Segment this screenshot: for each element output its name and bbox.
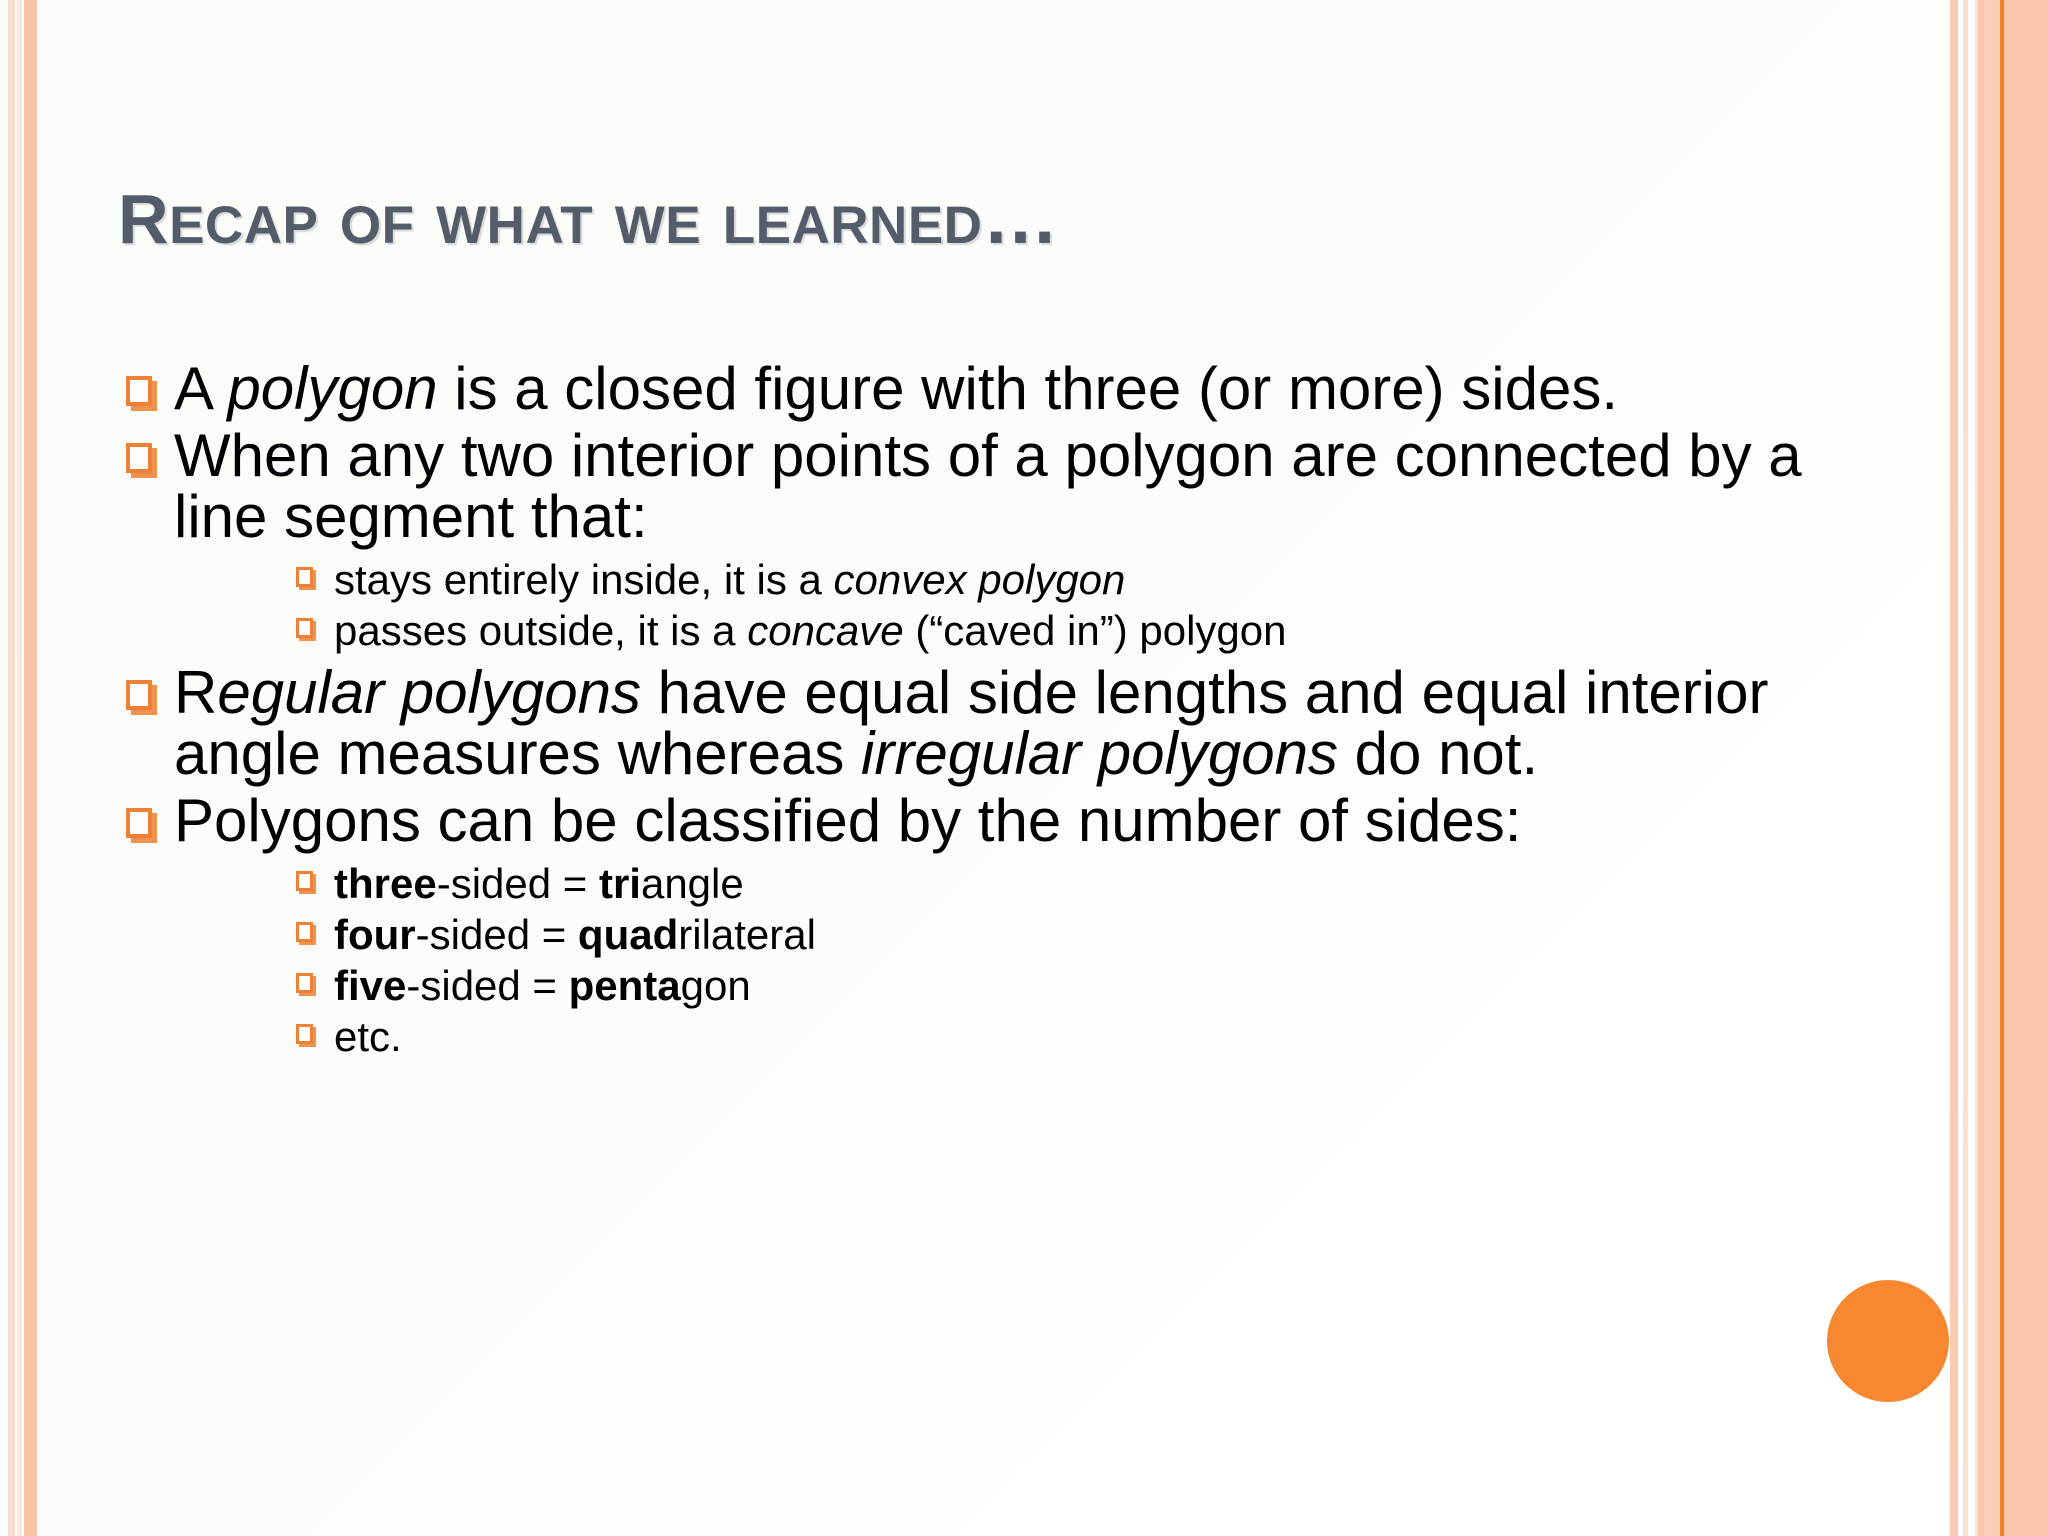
square-bullet-icon (126, 376, 152, 406)
text-run: passes outside, it is a (334, 607, 747, 654)
square-bullet-icon (126, 680, 152, 710)
right-stripe-accent-line (2000, 0, 2004, 1536)
text-run: gon (681, 962, 751, 1009)
orange-square-sub-bullet (296, 871, 313, 891)
orange-square-bullet (126, 808, 152, 838)
right-stripe-outer (1950, 0, 1958, 1536)
orange-square-bullet (126, 376, 152, 406)
sub-bullet-text: three-sided = triangle (334, 860, 744, 907)
square-bullet-icon (296, 1024, 313, 1044)
sub-bullet-text: etc. (334, 1013, 402, 1060)
text-run: -sided = (416, 911, 578, 958)
text-run: irregular polygons (861, 720, 1338, 787)
orange-circle-decoration (1827, 1280, 1949, 1402)
square-bullet-icon (296, 567, 313, 587)
text-run: is a closed figure with three (or more) … (438, 355, 1618, 422)
text-run: tri (599, 860, 641, 907)
sub-bullet-item: five-sided = pentagon (292, 960, 1810, 1011)
text-run: four (334, 911, 416, 958)
slide-title-initial: R (118, 153, 169, 265)
sub-bullet-item: etc. (292, 1011, 1810, 1062)
orange-square-sub-bullet (296, 922, 313, 942)
text-run: rilateral (678, 911, 816, 958)
orange-square-sub-bullet (296, 567, 313, 587)
text-run: A (174, 355, 227, 422)
text-run: concave (747, 607, 903, 654)
slide-title-rest: ecap of what we learned… (169, 175, 1059, 260)
sub-bullet-text: passes outside, it is a concave (“caved … (334, 607, 1287, 654)
square-bullet-icon (126, 808, 152, 838)
right-stripe-pale (1963, 0, 1968, 1536)
text-run: stays entirely inside, it is a (334, 556, 834, 603)
text-run: Polygons can be classified by the number… (174, 787, 1521, 854)
orange-square-bullet (126, 680, 152, 710)
square-bullet-icon (296, 922, 313, 942)
bullet-list: A polygon is a closed figure with three … (110, 358, 1810, 1063)
presentation-slide: Recap of what we learned… A polygon is a… (0, 0, 2048, 1536)
sub-bullet-text: four-sided = quadrilateral (334, 911, 816, 958)
bullet-text: Polygons can be classified by the number… (174, 787, 1521, 854)
left-stripe-inner (24, 0, 37, 1536)
sub-bullet-list: stays entirely inside, it is a convex po… (174, 554, 1810, 656)
text-run: polygon (227, 355, 437, 422)
square-bullet-icon (296, 618, 313, 638)
left-stripe-mid (17, 0, 22, 1536)
text-run: do not. (1338, 720, 1538, 787)
text-run: penta (569, 962, 681, 1009)
text-run: convex polygon (834, 556, 1126, 603)
left-stripe-outer (8, 0, 15, 1536)
bullet-item: Regular polygons have equal side lengths… (110, 662, 1810, 784)
text-run: egular polygons (217, 659, 641, 726)
text-run: When any two interior points of a polygo… (174, 422, 1802, 550)
text-run: -sided = (437, 860, 599, 907)
text-run: three (334, 860, 437, 907)
orange-square-sub-bullet (296, 973, 313, 993)
bullet-text: Regular polygons have equal side lengths… (174, 659, 1768, 787)
square-bullet-icon (296, 973, 313, 993)
orange-square-sub-bullet (296, 618, 313, 638)
sub-bullet-list: three-sided = trianglefour-sided = quadr… (174, 858, 1810, 1063)
bullet-text: A polygon is a closed figure with three … (174, 355, 1618, 422)
text-run: etc. (334, 1013, 402, 1060)
text-run: angle (641, 860, 744, 907)
text-run: -sided = (406, 962, 568, 1009)
text-run: (“caved in”) polygon (904, 607, 1287, 654)
sub-bullet-item: passes outside, it is a concave (“caved … (292, 605, 1810, 656)
orange-square-sub-bullet (296, 1024, 313, 1044)
bullet-item: A polygon is a closed figure with three … (110, 358, 1810, 419)
text-run: R (174, 659, 217, 726)
slide-title: Recap of what we learned… (118, 159, 1878, 259)
text-run: quad (578, 911, 678, 958)
bullet-item: When any two interior points of a polygo… (110, 425, 1810, 656)
sub-bullet-item: stays entirely inside, it is a convex po… (292, 554, 1810, 605)
sub-bullet-text: stays entirely inside, it is a convex po… (334, 556, 1125, 603)
square-bullet-icon (126, 443, 152, 473)
square-bullet-icon (296, 871, 313, 891)
sub-bullet-item: four-sided = quadrilateral (292, 909, 1810, 960)
orange-square-bullet (126, 443, 152, 473)
slide-body: A polygon is a closed figure with three … (110, 358, 1810, 1069)
bullet-item: Polygons can be classified by the number… (110, 790, 1810, 1062)
sub-bullet-text: five-sided = pentagon (334, 962, 751, 1009)
right-stripe-hairline (1975, 0, 1978, 1536)
bullet-text: When any two interior points of a polygo… (174, 422, 1802, 550)
sub-bullet-item: three-sided = triangle (292, 858, 1810, 909)
text-run: five (334, 962, 406, 1009)
